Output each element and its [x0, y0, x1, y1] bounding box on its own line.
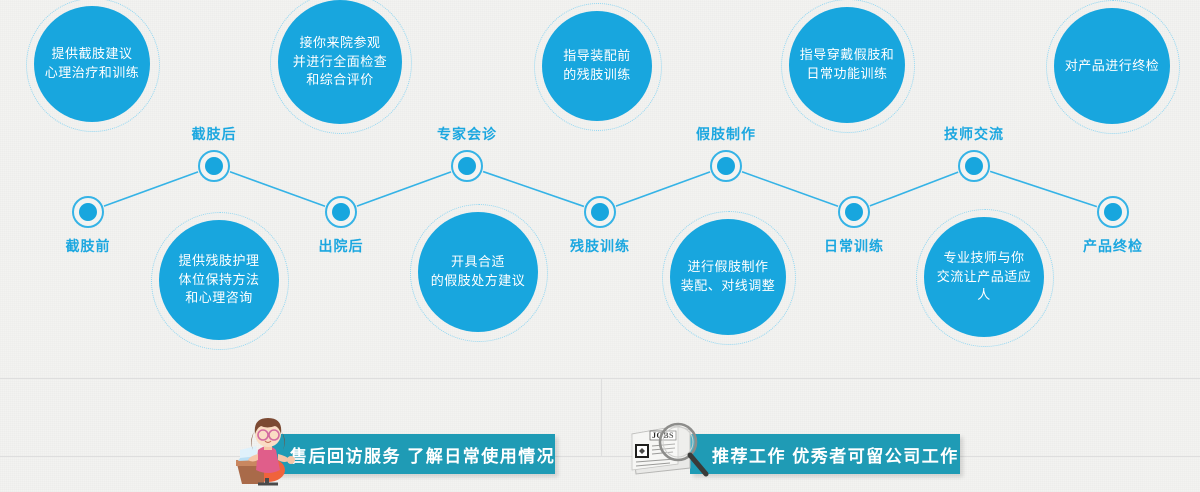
- woman-at-desk-illustration: [234, 412, 300, 486]
- node-dot-n3[interactable]: [332, 203, 350, 221]
- flow-connector-line: [230, 172, 325, 206]
- bubble-text-b4: 指导穿戴假肢和 日常功能训练: [792, 46, 903, 84]
- node-dot-n8[interactable]: [965, 157, 983, 175]
- flow-connector-line: [357, 172, 451, 206]
- banner-jobs-label: 推荐工作 优秀者可留公司工作: [712, 442, 959, 467]
- node-dot-n7[interactable]: [845, 203, 863, 221]
- bubble-text-b7: 开具合适 的假肢处方建议: [423, 253, 534, 291]
- node-label-n3: 出院后: [319, 236, 364, 256]
- node-label-n9: 产品终检: [1083, 236, 1143, 256]
- node-dot-n9[interactable]: [1104, 203, 1122, 221]
- flow-connector-line: [104, 172, 198, 206]
- bubble-text-b6: 提供残肢护理 体位保持方法 和心理咨询: [170, 252, 267, 309]
- node-dot-n5[interactable]: [591, 203, 609, 221]
- bubble-text-b5: 对产品进行终检: [1057, 57, 1168, 76]
- bubble-text-b2: 接你来院参观 并进行全面检查 和综合评价: [285, 34, 396, 91]
- flow-connector-line: [990, 171, 1097, 206]
- node-label-n4: 专家会诊: [437, 124, 497, 144]
- node-label-n7: 日常训练: [824, 236, 884, 256]
- bubble-b8[interactable]: 进行假肢制作 装配、对线调整: [670, 219, 786, 335]
- node-dot-n6[interactable]: [717, 157, 735, 175]
- bubble-b6[interactable]: 提供残肢护理 体位保持方法 和心理咨询: [159, 220, 279, 340]
- node-label-n5: 残肢训练: [570, 236, 630, 256]
- flow-connector-line: [742, 172, 838, 207]
- bubble-text-b3: 指导装配前 的残肢训练: [555, 47, 639, 85]
- node-label-n2: 截肢后: [192, 124, 237, 144]
- node-dot-n4[interactable]: [458, 157, 476, 175]
- flow-connector-line: [483, 172, 584, 207]
- node-label-n6: 假肢制作: [696, 124, 756, 144]
- node-dot-n1[interactable]: [79, 203, 97, 221]
- bubble-b7[interactable]: 开具合适 的假肢处方建议: [418, 212, 538, 332]
- jobs-newspaper-magnifier-illustration: JOBS: [626, 418, 712, 480]
- banner-aftersales-label: 售后回访服务 了解日常使用情况: [290, 442, 555, 467]
- flow-connector-line: [616, 172, 710, 206]
- banner-aftersales[interactable]: 售后回访服务 了解日常使用情况: [268, 434, 555, 474]
- bubble-b5[interactable]: 对产品进行终检: [1054, 8, 1170, 124]
- bubble-text-b9: 专业技师与你 交流让产品适应人: [924, 249, 1044, 306]
- guide-line-vertical: [601, 378, 602, 456]
- flowchart-canvas: 截肢前截肢后出院后专家会诊残肢训练假肢制作日常训练技师交流产品终检 提供截肢建议…: [0, 0, 1200, 492]
- flow-connector-line: [870, 172, 958, 206]
- banner-jobs[interactable]: 推荐工作 优秀者可留公司工作: [690, 434, 960, 474]
- node-dot-n2[interactable]: [205, 157, 223, 175]
- bubble-b2[interactable]: 接你来院参观 并进行全面检查 和综合评价: [278, 0, 402, 124]
- bubble-b4[interactable]: 指导穿戴假肢和 日常功能训练: [789, 7, 905, 123]
- bubble-text-b8: 进行假肢制作 装配、对线调整: [673, 258, 784, 296]
- node-label-n1: 截肢前: [66, 236, 111, 256]
- guide-line-horizontal-bottom: [0, 456, 1200, 457]
- bubble-text-b1: 提供截肢建议 心理治疗和训练: [37, 45, 148, 83]
- bubble-b3[interactable]: 指导装配前 的残肢训练: [542, 11, 652, 121]
- node-label-n8: 技师交流: [944, 124, 1004, 144]
- bubble-b1[interactable]: 提供截肢建议 心理治疗和训练: [34, 6, 150, 122]
- bubble-b9[interactable]: 专业技师与你 交流让产品适应人: [924, 217, 1044, 337]
